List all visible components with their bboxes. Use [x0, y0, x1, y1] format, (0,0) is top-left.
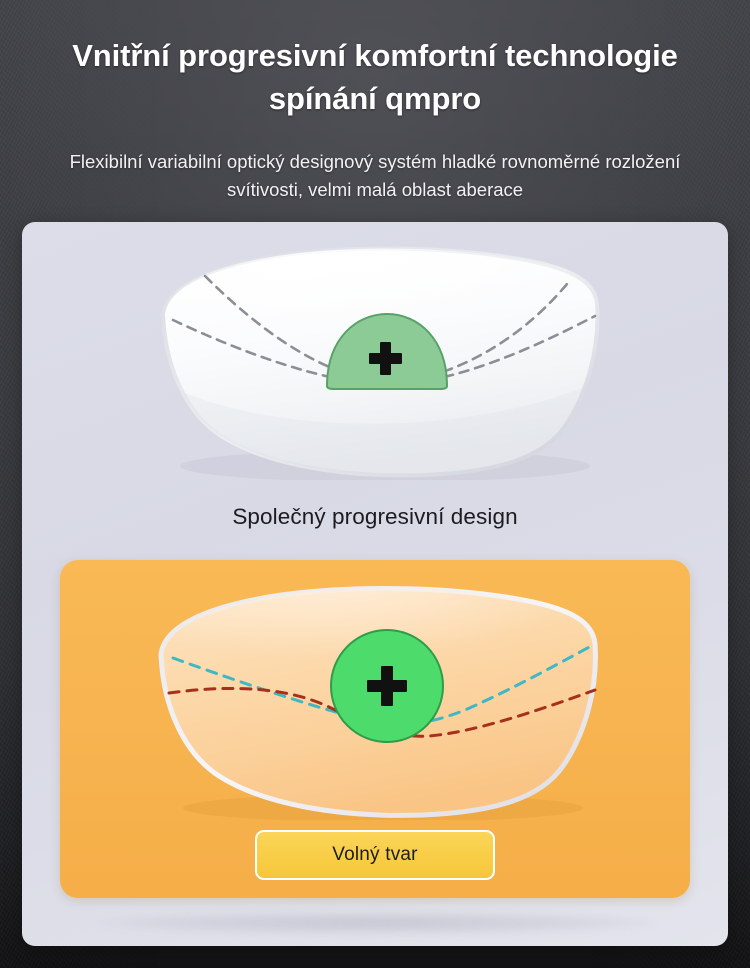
promo-page: Vnitřní progresivní komfortní technologi…: [0, 0, 750, 968]
near-vision-zone-marker-bottom: [331, 630, 443, 742]
common-progressive-lens-illustration: [22, 228, 728, 488]
free-form-lens-illustration: [60, 568, 690, 823]
lens-top-svg: [95, 228, 655, 480]
free-form-button[interactable]: Volný tvar: [255, 830, 495, 880]
free-form-panel: Volný tvar: [60, 560, 690, 898]
panel-ground-shadow: [95, 912, 655, 934]
page-subtitle: Flexibilní variabilní optický designový …: [0, 121, 750, 204]
content-card: Společný progresivní design: [22, 222, 728, 946]
page-header: Vnitřní progresivní komfortní technologi…: [0, 0, 750, 204]
page-title: Vnitřní progresivní komfortní technologi…: [0, 0, 750, 121]
lens-bottom-svg: [95, 568, 655, 820]
section-caption-common-design: Společný progresivní design: [22, 504, 728, 530]
